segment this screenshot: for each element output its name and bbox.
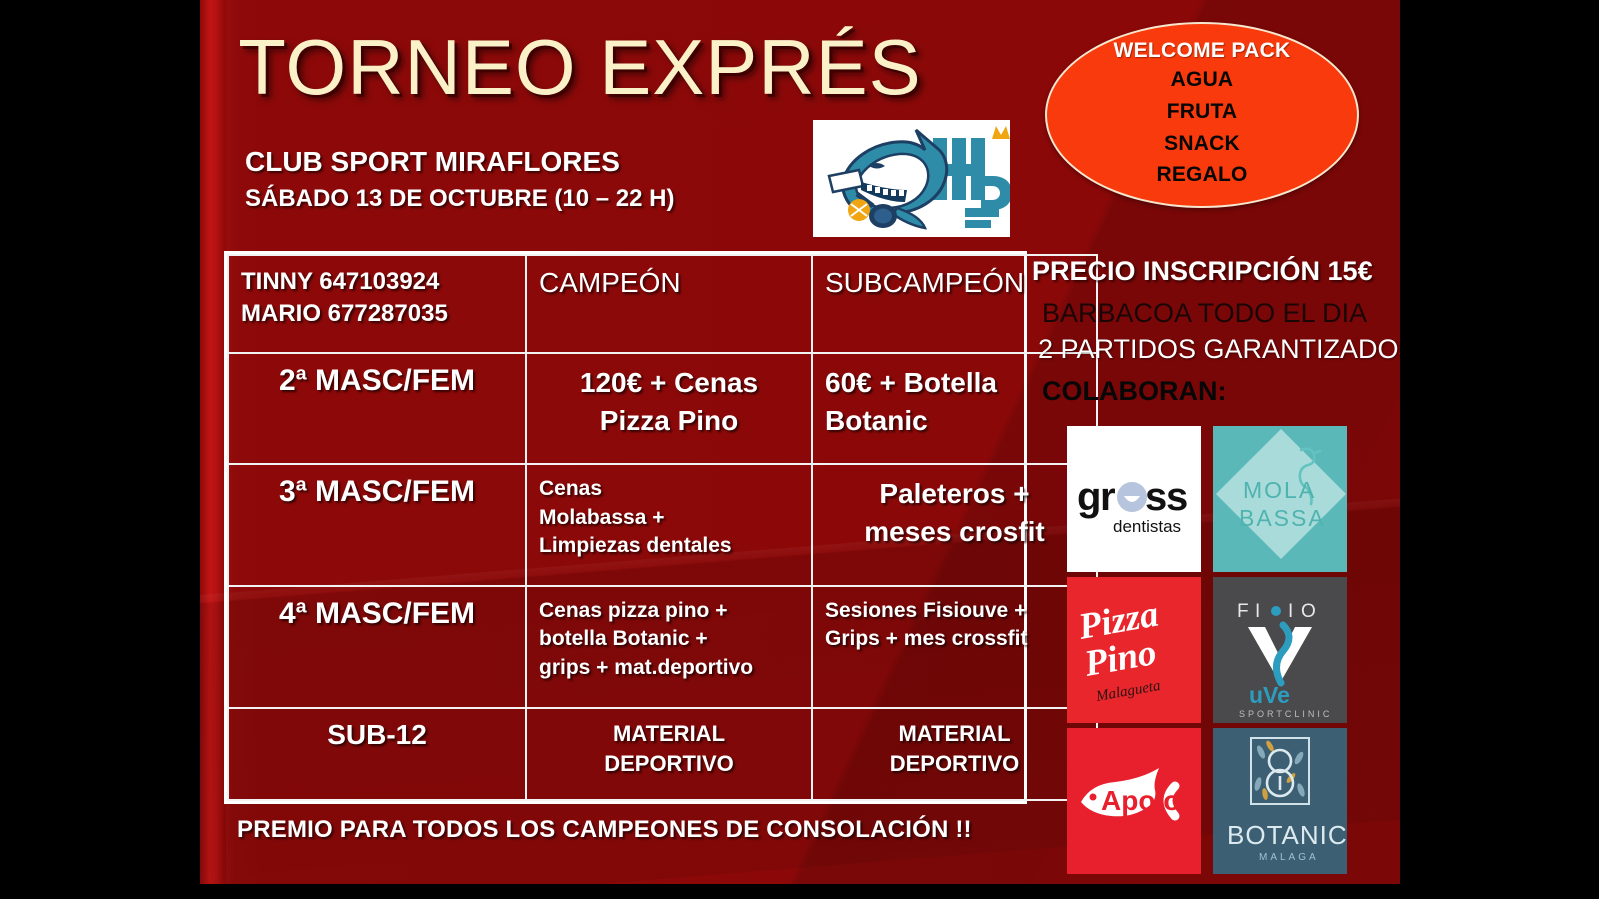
letterbox-bottom-bar [0,884,1599,899]
runner-up-prize-cell: 60€ + Botella Botanic [812,353,1097,464]
svg-text:O: O [1301,601,1321,622]
svg-text:I: I [1288,601,1298,622]
barbecue-note: BARBACOA TODO EL DIA [1042,298,1367,329]
welcome-pack-item: FRUTA [1167,96,1238,128]
svg-text:s: s [1145,475,1167,519]
table-row: TINNY 647103924 MARIO 677287035 CAMPEÓN … [228,255,1097,353]
event-subtitle: CLUB SPORT MIRAFLORES SÁBADO 13 DE OCTUB… [245,142,865,216]
svg-text:Apolo: Apolo [1101,785,1180,816]
club-name: CLUB SPORT MIRAFLORES [245,142,865,182]
table-row: SUB-12 MATERIAL DEPORTIVO MATERIAL DEPOR… [228,708,1097,800]
sponsor-logo-mola-bassa: MOLA BASSA [1213,426,1347,572]
consolation-prize-note: PREMIO PARA TODOS LOS CAMPEONES DE CONSO… [237,816,972,844]
poster-content: TORNEO EXPRÉS CLUB SPORT MIRAFLORES SÁBA… [200,0,1400,884]
table-row: 4ª MASC/FEM Cenas pizza pino + botella B… [228,586,1097,708]
welcome-pack-heading: WELCOME PACK [1113,39,1290,63]
svg-text:I: I [1255,601,1265,622]
sponsor-logo-botanic: BOTANIC MALAGA [1213,728,1347,874]
contact-tinny: TINNY 647103924 [241,266,513,298]
welcome-pack-item: SNACK [1164,128,1240,160]
table-row: 2ª MASC/FEM 120€ + Cenas Pizza Pino 60€ … [228,353,1097,464]
contacts-cell: TINNY 647103924 MARIO 677287035 [228,255,526,353]
champion-prize-cell: Cenas pizza pino + botella Botanic + gri… [526,586,812,708]
svg-text:r: r [1100,475,1116,519]
welcome-pack-badge: WELCOME PACK AGUA FRUTA SNACK REGALO [1045,22,1359,208]
champion-prize-cell: Cenas Molabassa + Limpiezas dentales [526,464,812,586]
champion-prize-cell: 120€ + Cenas Pizza Pino [526,353,812,464]
club-logo [813,120,1010,237]
event-date: SÁBADO 13 DE OCTUBRE (10 – 22 H) [245,182,865,216]
svg-text:MOLA: MOLA [1243,477,1316,503]
sponsor-logo-gross-dentistas: g r s s dentistas [1067,426,1201,572]
category-cell: 2ª MASC/FEM [228,353,526,464]
crown-icon [992,126,1010,139]
svg-text:F: F [1237,601,1254,622]
svg-text:dentistas: dentistas [1113,517,1181,536]
svg-text:BASSA: BASSA [1239,505,1326,531]
champion-prize-cell: MATERIAL DEPORTIVO [526,708,812,800]
champion-header-label: CAMPEÓN [539,266,799,300]
svg-text:BOTANIC: BOTANIC [1227,820,1347,850]
page-title: TORNEO EXPRÉS [200,22,960,113]
category-cell: SUB-12 [228,708,526,800]
slide-viewer: TORNEO EXPRÉS CLUB SPORT MIRAFLORES SÁBA… [0,0,1599,899]
sponsor-logo-grid: g r s s dentistas [1067,426,1354,861]
welcome-pack-item: AGUA [1171,64,1234,96]
guaranteed-matches-note: 2 PARTIDOS GARANTIZADOS [1038,334,1400,365]
poster-slide: TORNEO EXPRÉS CLUB SPORT MIRAFLORES SÁBA… [200,0,1400,884]
svg-text:g: g [1077,475,1101,519]
collaborators-label: COLABORAN: [1042,376,1226,407]
svg-text:SPORTCLINIC: SPORTCLINIC [1239,709,1332,719]
svg-text:uVe: uVe [1249,682,1290,708]
svg-text:MALAGA: MALAGA [1259,852,1319,863]
category-cell: 3ª MASC/FEM [228,464,526,586]
table-row: 3ª MASC/FEM Cenas Molabassa + Limpiezas … [228,464,1097,586]
prize-table: TINNY 647103924 MARIO 677287035 CAMPEÓN … [224,251,1027,804]
category-cell: 4ª MASC/FEM [228,586,526,708]
welcome-pack-item: REGALO [1156,159,1247,191]
runner-up-prize-cell: Paleteros + meses crosfit [812,464,1097,586]
contact-mario: MARIO 677287035 [241,298,513,330]
runner-up-prize-cell: Sesiones Fisiouve + Grips + mes crossfit [812,586,1097,708]
runner-up-prize-cell: MATERIAL DEPORTIVO [812,708,1097,800]
sponsor-logo-fisio-uve: F I I O uVe SPORTCLINIC [1213,577,1347,723]
sponsor-logo-pizza-pino: Pizza Pino Malagueta [1067,577,1201,723]
registration-price: PRECIO INSCRIPCIÓN 15€ [1032,256,1373,287]
sponsor-logo-apolo: Apolo [1067,728,1201,874]
shark-mascot-icon [829,130,947,228]
svg-text:s: s [1166,475,1188,519]
column-header-champion: CAMPEÓN [526,255,812,353]
